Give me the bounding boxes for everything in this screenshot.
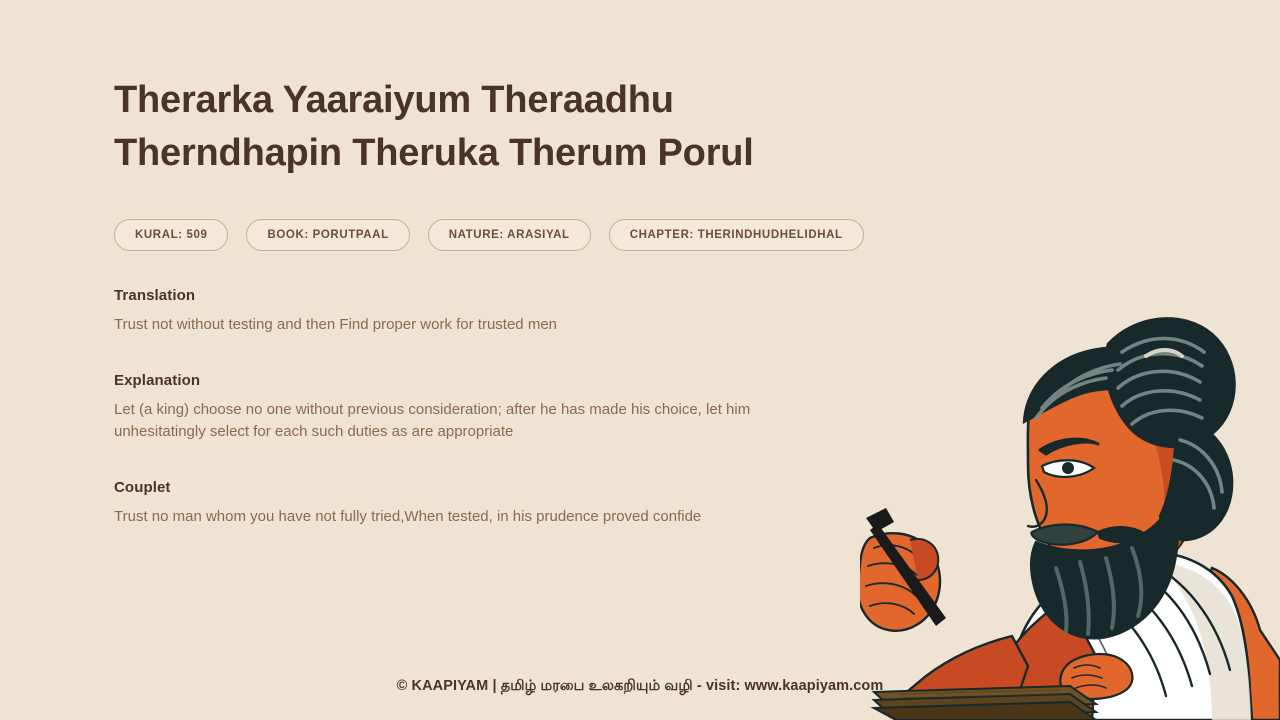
face-shadow: [1128, 384, 1196, 572]
far-shoulder: [1190, 568, 1280, 720]
section-body-translation: Trust not without testing and then Find …: [114, 314, 804, 336]
bun-tie: [1146, 350, 1182, 356]
hair-back: [1160, 420, 1232, 540]
kural-card-page: Therarka Yaaraiyum Theraadhu Therndhapin…: [0, 0, 1280, 720]
page-title: Therarka Yaaraiyum Theraadhu Therndhapin…: [114, 74, 894, 180]
chip-book[interactable]: BOOK: PORUTPAAL: [246, 219, 409, 251]
neck: [1100, 500, 1169, 570]
garment-folds: [1094, 562, 1230, 696]
writing-hand: [860, 533, 940, 631]
beard-highlights: [1056, 548, 1141, 634]
section-body-explanation: Let (a king) choose no one without previ…: [114, 399, 804, 443]
hair-front: [1024, 348, 1199, 450]
kural-content: Therarka Yaaraiyum Theraadhu Therndhapin…: [114, 74, 904, 528]
writing-arm: [956, 600, 1096, 720]
face: [1028, 373, 1200, 579]
hair-highlights: [1036, 339, 1222, 509]
moustache-right: [1098, 527, 1148, 542]
chip-kural[interactable]: KURAL: 509: [114, 219, 228, 251]
moustache: [1031, 525, 1098, 545]
section-couplet: Couplet Trust no man whom you have not f…: [114, 479, 904, 528]
eye: [1042, 460, 1094, 477]
ear: [1172, 474, 1200, 521]
section-body-couplet: Trust no man whom you have not fully tri…: [114, 506, 804, 528]
section-explanation: Explanation Let (a king) choose no one w…: [114, 372, 904, 443]
eyebrow: [1040, 439, 1098, 454]
garment-shadow: [1160, 562, 1251, 720]
section-heading-translation: Translation: [114, 287, 904, 304]
thiruvalluvar-writing-illustration: [860, 300, 1280, 720]
chip-chapter[interactable]: CHAPTER: THERINDHUDHELIDHAL: [609, 219, 864, 251]
meta-chip-row: KURAL: 509 BOOK: PORUTPAAL NATURE: ARASI…: [114, 219, 904, 251]
pupil: [1062, 462, 1074, 474]
section-heading-explanation: Explanation: [114, 372, 904, 389]
section-translation: Translation Trust not without testing an…: [114, 287, 904, 336]
beard: [1031, 496, 1178, 638]
footer-credit: © KAAPIYAM | தமிழ் மரபை உலகறியும் வழி - …: [0, 678, 1280, 696]
chip-nature[interactable]: NATURE: ARASIYAL: [428, 219, 591, 251]
nose: [1028, 480, 1047, 527]
section-heading-couplet: Couplet: [114, 479, 904, 496]
hair-bun: [1105, 318, 1234, 446]
